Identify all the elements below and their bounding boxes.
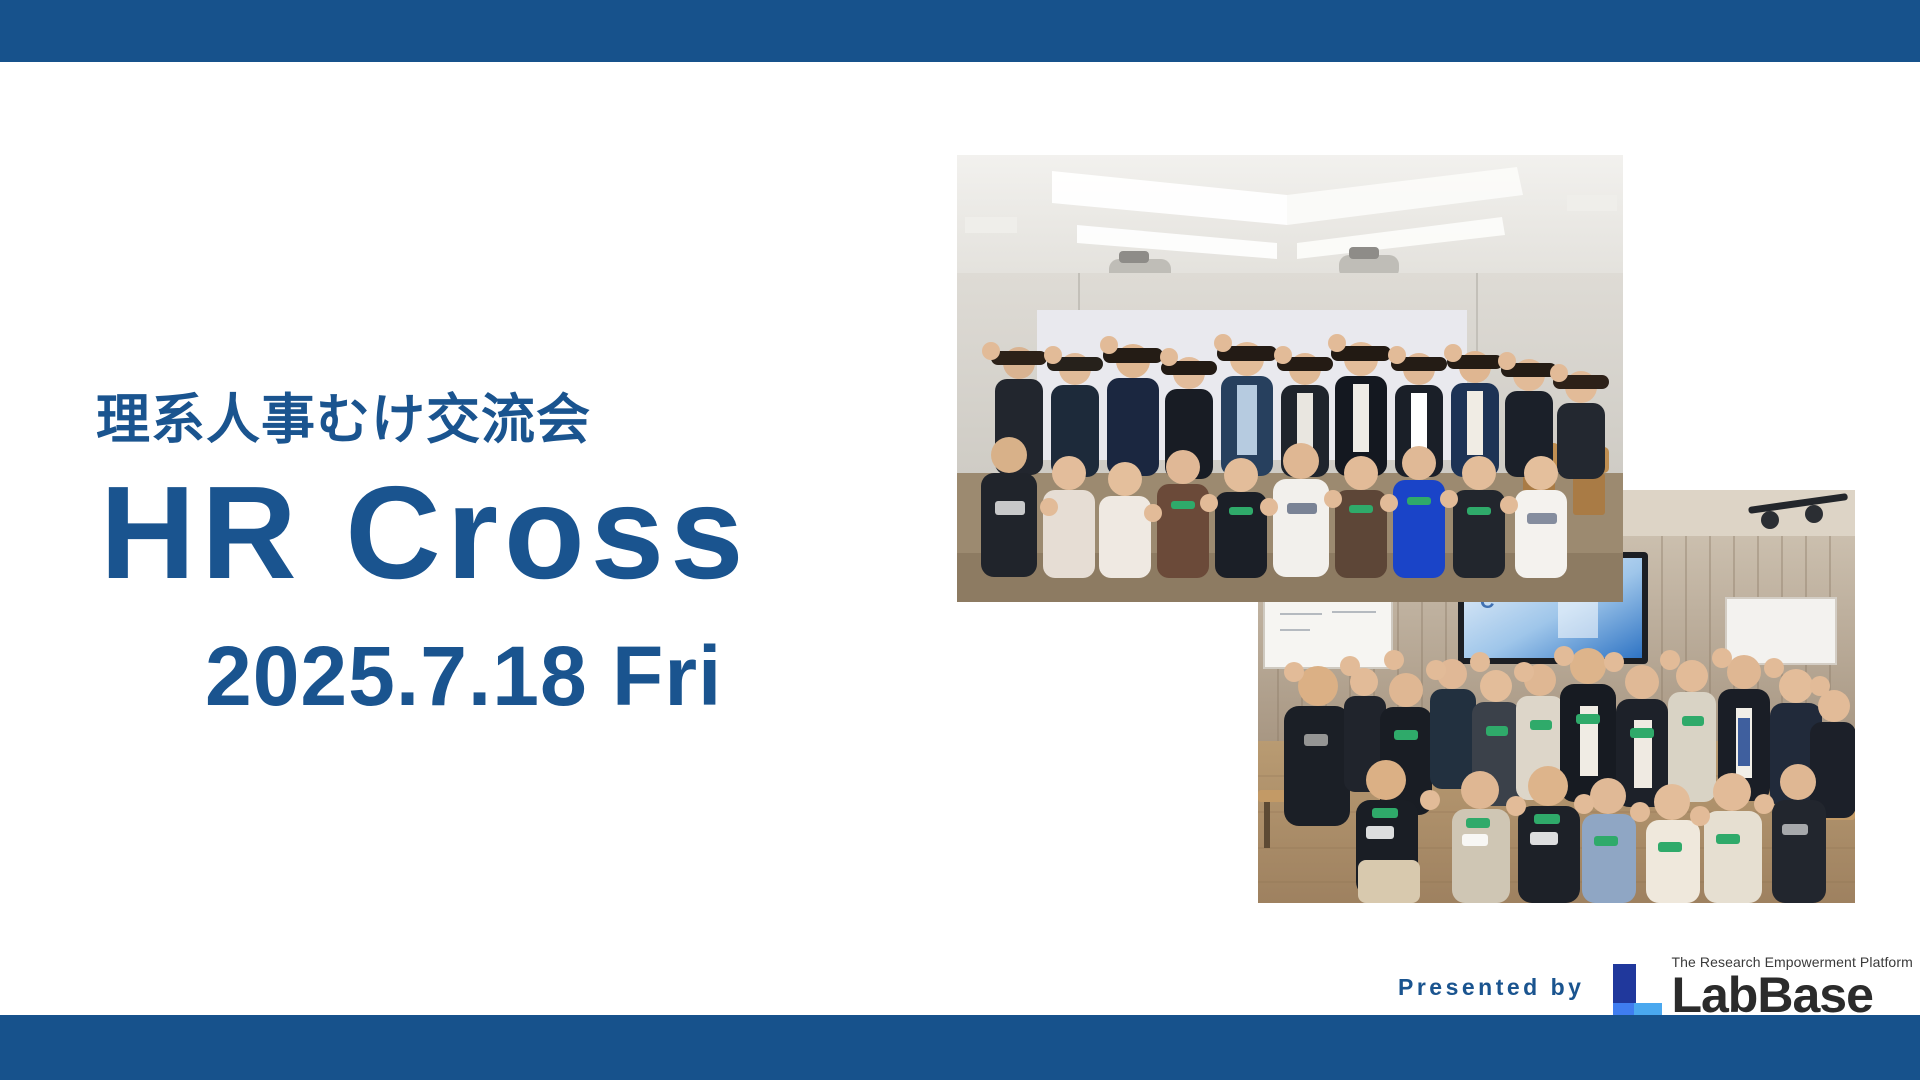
logo-stem-shape	[1613, 964, 1636, 1005]
group-photo-conference-room	[957, 155, 1623, 602]
presented-by-label: Presented by	[1398, 974, 1584, 1001]
event-date: 2025.7.18 Fri	[205, 630, 722, 722]
bottom-brand-bar	[0, 1015, 1920, 1080]
top-brand-bar	[0, 0, 1920, 62]
conference-room-photo-illustration	[957, 155, 1623, 602]
event-banner-slide: 理系人事むけ交流会 HR Cross 2025.7.18 Fri	[0, 0, 1920, 1080]
labbase-logo[interactable]: The Research Empowerment Platform LabBas…	[1606, 955, 1912, 1020]
event-subtitle-japanese: 理系人事むけ交流会	[96, 390, 591, 449]
labbase-wordmark: LabBase	[1671, 972, 1872, 1020]
labbase-l-mark-icon	[1606, 964, 1662, 1020]
event-title: HR Cross	[100, 460, 749, 605]
presented-by-credit: Presented by The Research Empowerment Pl…	[1398, 955, 1913, 1020]
labbase-logo-text: The Research Empowerment Platform LabBas…	[1671, 955, 1912, 1020]
